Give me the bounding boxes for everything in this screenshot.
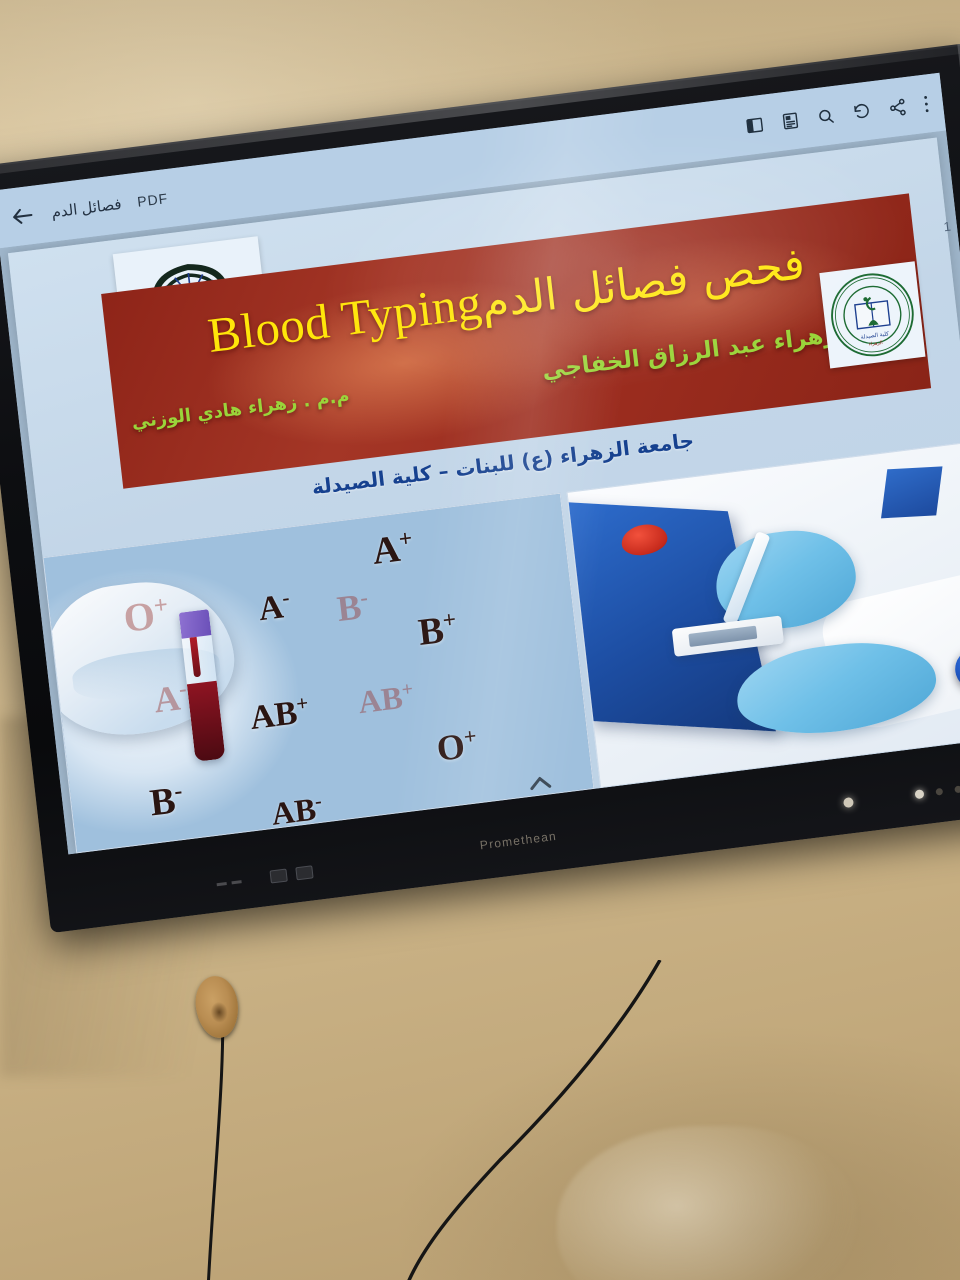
slide-title-en: Blood Typing <box>205 274 484 363</box>
blood-type-bneg: B- <box>335 587 370 628</box>
promethean-display: Promethean <box>0 43 960 933</box>
display-screen[interactable]: فصائل الدم PDF <box>0 73 960 855</box>
blood-type-abpos: AB+ <box>248 692 311 735</box>
status-led-1 <box>935 788 943 796</box>
blood-type-opos: O+ <box>122 594 171 640</box>
brand-label: Promethean <box>479 829 557 852</box>
title-banner: Blood Typingفحص فصائل الدم م .د . زهراء … <box>101 193 931 488</box>
back-arrow-icon[interactable] <box>8 202 37 231</box>
slide-title-ar: فحص فصائل الدم <box>479 237 818 329</box>
author-secondary: م.م . زهراء هادي الوزني <box>131 385 351 433</box>
blood-type-aneg: A- <box>257 587 292 627</box>
pdf-toolbar <box>744 94 930 136</box>
svg-text:كلية الصيدلة: كلية الصيدلة <box>860 330 889 341</box>
thumbnail-view-icon[interactable] <box>780 110 801 131</box>
port-labels <box>217 880 242 886</box>
svg-text:الزهراء: الزهراء <box>868 340 883 348</box>
blood-type-opos: O+ <box>435 725 480 767</box>
photo-scene: Promethean <box>0 0 960 1280</box>
status-led-2 <box>954 785 960 793</box>
usb-ports[interactable] <box>269 865 313 883</box>
search-icon[interactable] <box>816 105 837 126</box>
document-type-label: PDF <box>136 190 169 210</box>
chevron-up-icon[interactable] <box>524 770 556 796</box>
power-led <box>915 789 925 799</box>
blood-type-apos: A+ <box>370 527 415 570</box>
college-of-pharmacy-seal: كلية الصيدلة الزهراء <box>819 261 925 368</box>
usb-port-2[interactable] <box>295 865 313 880</box>
blood-type-abneg: AB- <box>270 792 324 830</box>
blood-type-abpos: AB+ <box>357 679 416 718</box>
rotate-icon[interactable] <box>851 101 872 122</box>
power-cables <box>0 960 960 1280</box>
blood-type-bneg: B- <box>148 780 185 823</box>
blue-pocket-detail <box>881 466 942 518</box>
pdf-page[interactable]: Blood Typingفحص فصائل الدم م .د . زهراء … <box>8 138 960 854</box>
photo-finger-prick-test <box>566 442 960 788</box>
more-options-icon[interactable] <box>923 94 930 113</box>
display-bezel: Promethean <box>0 43 960 933</box>
document-title: فصائل الدم <box>51 195 123 222</box>
ir-sensor <box>843 797 854 808</box>
page-number-badge: 1 <box>943 219 952 235</box>
blood-type-labels: A+O+A-B-B+A-AB+AB+O+B-AB- <box>44 494 593 852</box>
blood-type-bpos: B+ <box>416 608 459 651</box>
usb-port-1[interactable] <box>269 869 287 884</box>
status-leds <box>915 782 960 799</box>
pdf-viewer[interactable]: 1 <box>0 130 960 854</box>
share-icon[interactable] <box>887 97 908 118</box>
sidebar-panel-icon[interactable] <box>744 114 765 135</box>
blood-type-aneg: A- <box>152 678 189 719</box>
photo-blood-sample-tube: A+O+A-B-B+A-AB+AB+O+B-AB- <box>43 493 595 854</box>
